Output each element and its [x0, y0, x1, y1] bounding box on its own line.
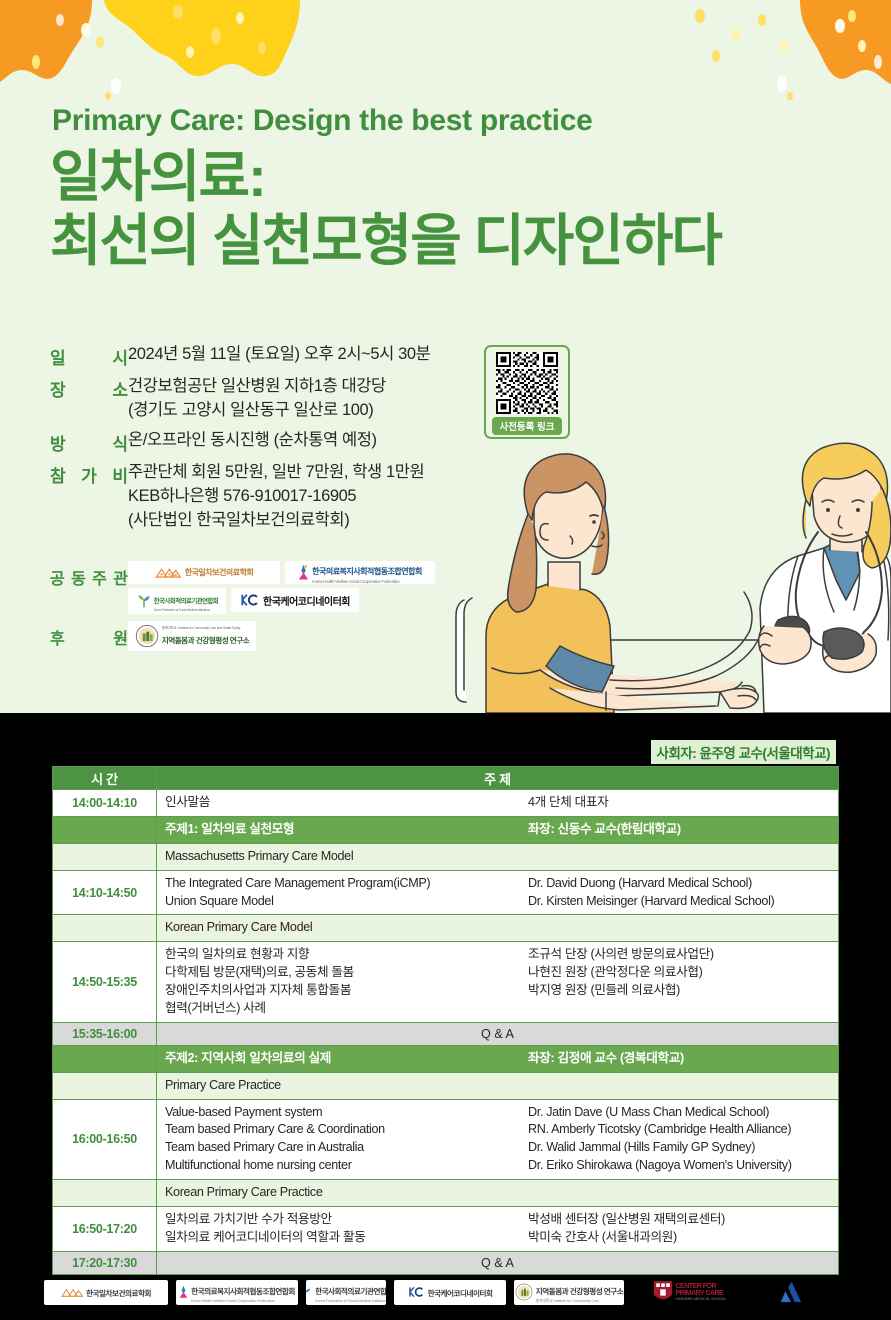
info-value-venue: 건강보험공단 일산병원 지하1층 대강당 (경기도 고양시 일산동구 일산로 1… [128, 375, 386, 423]
schedule-table: 시 간 주 제 14:00-14:10인사말씀4개 단체 대표자주제1: 일차의… [52, 766, 839, 1275]
footer-logo-sub: Korea Federation of Social Medical Insti… [315, 1299, 386, 1303]
table-row: 14:00-14:10인사말씀4개 단체 대표자 [53, 790, 839, 817]
cell-time [53, 1180, 157, 1207]
cell-topic: 일차의료 가치기반 수가 적용방안일차의료 케어코디네이터의 역할과 활동박성배… [157, 1206, 839, 1251]
logo-kpca-text: 한국일차보건의료학회 [185, 567, 254, 578]
topic-text: Massachusetts Primary Care Model [165, 848, 528, 866]
logo-khwscf-text: 한국의료복지사회적협동조합연합회 [312, 567, 422, 576]
footer-logo: 한국일차보건의료학회 [44, 1280, 168, 1305]
speaker-text: 좌장: 김정애 교수 (경복대학교) [528, 1050, 838, 1068]
footer-logo-strip: 한국일차보건의료학회한국의료복지사회적협동조합연합회Korea Health W… [0, 1272, 891, 1312]
topic-text: 일차의료 가치기반 수가 적용방안일차의료 케어코디네이터의 역할과 활동 [165, 1211, 528, 1247]
table-row: Primary Care Practice [53, 1072, 839, 1099]
schedule-panel: 사회자: 윤주영 교수(서울대학교) 시 간 주 제 14:00-14:10인사… [0, 713, 891, 1320]
logo-kpca: 한국일차보건의료학회 [128, 561, 280, 584]
institute-seal-icon [135, 624, 159, 648]
info-row-datetime: 일시 2024년 5월 11일 (토요일) 오후 2시~5시 30분 [50, 343, 490, 369]
cell-time: 16:00-16:50 [53, 1099, 157, 1180]
speaker-text: 4개 단체 대표자 [528, 794, 838, 812]
table-row: Korean Primary Care Model [53, 915, 839, 942]
cohost-label: 공동주관 [50, 561, 128, 589]
moderator-label: 사회자: 윤주영 교수(서울대학교) [651, 740, 836, 764]
footer-logo-name: 한국사회적의료기관연합회 [315, 1287, 386, 1296]
footer-logo-name: 한국케어코디네이터회 [428, 1289, 493, 1298]
footer-logo-name: 한국일차보건의료학회 [86, 1289, 151, 1298]
footer-logo-mark-icon [306, 1286, 312, 1299]
topic-text: 인사말씀 [165, 794, 528, 812]
info-row-venue: 장소 건강보험공단 일산병원 지하1층 대강당 (경기도 고양시 일산동구 일산… [50, 375, 490, 423]
poster-root: Primary Care: Design the best practice 일… [0, 0, 891, 1320]
footer-logo-sub: HARVARD MEDICAL SCHOOL [676, 1297, 740, 1301]
info-label-format: 방식 [50, 429, 128, 455]
footer-logo: 한국의료복지사회적협동조합연합회Korea Health Welfare Soc… [176, 1280, 298, 1305]
footer-logo-mark-icon [61, 1287, 83, 1298]
footer-logo-sub: 충북대학교 Institute for Community Care [536, 1299, 624, 1304]
cell-topic: Q & A [157, 1251, 839, 1274]
info-value-format: 온/오프라인 동시진행 (순차통역 예정) [128, 429, 377, 453]
logo-cbnu-institute: 충북대학교 / Institute for Community Care and… [128, 621, 256, 651]
footer-logo: 지역돌봄과 건강형평성 연구소충북대학교 Institute for Commu… [514, 1280, 624, 1305]
logo-cbnu-sub: 충북대학교 / Institute for Community Care and… [162, 625, 250, 630]
cell-topic: 주제1: 일차의료 실천모형좌장: 신동수 교수(한림대학교) [157, 816, 839, 843]
sponsor-row: 후원 충북대학교 / Institute for Community Care … [50, 621, 470, 651]
table-row: 17:20-17:30Q & A [53, 1251, 839, 1274]
cell-time [53, 1072, 157, 1099]
table-row: 15:35-16:00Q & A [53, 1022, 839, 1045]
sprout-icon [136, 593, 152, 609]
person-mark-icon [298, 564, 309, 581]
cell-topic: The Integrated Care Management Program(i… [157, 870, 839, 915]
footer-logo [768, 1277, 812, 1307]
qr-code-icon[interactable] [496, 352, 558, 414]
speaker-text: Dr. David Duong (Harvard Medical School)… [528, 875, 838, 911]
table-row: 14:50-15:35한국의 일차의료 현황과 지향다학제팀 방문(재택)의료,… [53, 942, 839, 1023]
table-row: 16:00-16:50Value-based Payment systemTea… [53, 1099, 839, 1180]
cell-time: 17:20-17:30 [53, 1251, 157, 1274]
logo-kfsmi-text: 한국사회적의료기관연합회 [154, 598, 219, 605]
info-label-fee: 참가비 [50, 461, 128, 487]
table-row: 주제2: 지역사회 일차의료의 실제좌장: 김정애 교수 (경복대학교) [53, 1045, 839, 1072]
speaker-text: 좌장: 신동수 교수(한림대학교) [528, 821, 838, 839]
speaker-text: Dr. Jatin Dave (U Mass Chan Medical Scho… [528, 1104, 838, 1176]
info-value-fee: 주관단체 회원 5만원, 일반 7만원, 학생 1만원 KEB하나은행 576-… [128, 461, 424, 533]
cell-topic: 인사말씀4개 단체 대표자 [157, 790, 839, 817]
qr-caption: 사전등록 링크 [492, 417, 561, 435]
footer-logo-sub: Korea Health Welfare Social Cooperative … [191, 1299, 295, 1303]
table-header-row: 시 간 주 제 [53, 767, 839, 790]
korean-title: 일차의료: 최선의 실천모형을 디자인하다 [50, 145, 890, 273]
cohost-logo-line-1: 한국일차보건의료학회 한국의료복지사회적협동조합연합회 Korea Health… [128, 561, 435, 584]
qa-label: Q & A [157, 1023, 838, 1045]
sponsor-logo-line: 충북대학교 / Institute for Community Care and… [128, 621, 256, 651]
footer-logo-mark-icon [653, 1280, 673, 1304]
table-row: Massachusetts Primary Care Model [53, 843, 839, 870]
cell-topic: 한국의 일차의료 현황과 지향다학제팀 방문(재택)의료, 공동체 돌봄장애인주… [157, 942, 839, 1023]
footer-logo-name: CENTER FOR PRIMARY CARE [676, 1283, 740, 1298]
table-row: 14:10-14:50The Integrated Care Managemen… [53, 870, 839, 915]
cell-time: 16:50-17:20 [53, 1206, 157, 1251]
column-header-time: 시 간 [53, 767, 157, 790]
footer-logo: 한국사회적의료기관연합회Korea Federation of Social M… [306, 1280, 386, 1305]
speaker-text: 박성배 센터장 (일산병원 재택의료센터)박미숙 간호사 (서울내과의원) [528, 1211, 838, 1247]
logo-kcc-text: 한국케어코디네이터회 [263, 593, 350, 608]
topic-text: 한국의 일차의료 현황과 지향다학제팀 방문(재택)의료, 공동체 돌봄장애인주… [165, 946, 528, 1018]
column-header-topic: 주 제 [157, 767, 839, 790]
cell-topic: Korean Primary Care Practice [157, 1180, 839, 1207]
organizer-block: 공동주관 한국일차보건의료학회 [50, 561, 470, 655]
cell-time: 14:50-15:35 [53, 942, 157, 1023]
korean-title-line2: 최선의 실천모형을 디자인하다 [50, 209, 890, 273]
footer-logo-mark-icon [179, 1285, 188, 1299]
table-row: 16:50-17:20일차의료 가치기반 수가 적용방안일차의료 케어코디네이터… [53, 1206, 839, 1251]
speaker-text: 조규석 단장 (사의련 방문의료사업단)나현진 원장 (관악정다운 의료사협)박… [528, 946, 838, 1000]
registration-qr-box[interactable]: 사전등록 링크 [484, 345, 570, 439]
info-value-datetime: 2024년 5월 11일 (토요일) 오후 2시~5시 30분 [128, 343, 430, 367]
english-title: Primary Care: Design the best practice [52, 104, 592, 138]
cell-topic: Primary Care Practice [157, 1072, 839, 1099]
mountain-house-icon [155, 566, 181, 579]
logo-kcc: 한국케어코디네이터회 [231, 588, 359, 612]
cell-topic: 주제2: 지역사회 일차의료의 실제좌장: 김정애 교수 (경복대학교) [157, 1045, 839, 1072]
cell-time [53, 915, 157, 942]
cell-topic: Value-based Payment systemTeam based Pri… [157, 1099, 839, 1180]
cohost-row: 공동주관 한국일차보건의료학회 [50, 561, 470, 614]
logo-khwscf: 한국의료복지사회적협동조합연합회 Korea Health Welfare So… [285, 561, 435, 584]
cell-time [53, 816, 157, 843]
topic-text: Korean Primary Care Practice [165, 1184, 528, 1202]
topic-text: 주제2: 지역사회 일차의료의 실제 [165, 1050, 528, 1068]
schedule-table-body: 14:00-14:10인사말씀4개 단체 대표자주제1: 일차의료 실천모형좌장… [53, 790, 839, 1275]
cell-topic: Q & A [157, 1022, 839, 1045]
table-row: Korean Primary Care Practice [53, 1180, 839, 1207]
cohost-logo-line-2: 한국사회적의료기관연합회 Korea Federation of Social … [128, 588, 435, 614]
logo-kfsmi-sub: Korea Federation of Social Medical Insti… [154, 608, 219, 612]
cell-time: 14:10-14:50 [53, 870, 157, 915]
cell-topic: Korean Primary Care Model [157, 915, 839, 942]
decorative-blobs [0, 0, 891, 120]
footer-logo-mark-icon [408, 1286, 425, 1298]
topic-text: Korean Primary Care Model [165, 919, 528, 937]
topic-text: 주제1: 일차의료 실천모형 [165, 821, 528, 839]
logo-cbnu-text: 지역돌봄과 건강형평성 연구소 [162, 636, 250, 645]
qa-label: Q & A [157, 1252, 838, 1274]
table-row: 주제1: 일차의료 실천모형좌장: 신동수 교수(한림대학교) [53, 816, 839, 843]
info-label-venue: 장소 [50, 375, 128, 401]
footer-logo-name: 지역돌봄과 건강형평성 연구소 [536, 1287, 624, 1296]
poster-top-panel: Primary Care: Design the best practice 일… [0, 0, 891, 713]
footer-logo-name: 한국의료복지사회적협동조합연합회 [191, 1287, 295, 1296]
cell-time [53, 1045, 157, 1072]
footer-logo-mark-icon [515, 1283, 533, 1301]
cell-topic: Massachusetts Primary Care Model [157, 843, 839, 870]
sponsor-label: 후원 [50, 621, 128, 649]
footer-logo: CENTER FOR PRIMARY CAREHARVARD MEDICAL S… [632, 1277, 760, 1307]
korean-title-line1: 일차의료: [50, 145, 265, 208]
topic-text: Primary Care Practice [165, 1077, 528, 1095]
footer-logo-mark-icon [777, 1280, 803, 1304]
kc-mark-icon [240, 593, 260, 607]
info-label-datetime: 일시 [50, 343, 128, 369]
footer-logo: 한국케어코디네이터회 [394, 1280, 506, 1305]
logo-kfsmi: 한국사회적의료기관연합회 Korea Federation of Social … [128, 588, 226, 614]
cell-time [53, 843, 157, 870]
cell-time: 15:35-16:00 [53, 1022, 157, 1045]
logo-khwscf-sub: Korea Health Welfare Social Cooperative … [312, 579, 422, 584]
topic-text: Value-based Payment systemTeam based Pri… [165, 1104, 528, 1176]
topic-text: The Integrated Care Management Program(i… [165, 875, 528, 911]
cell-time: 14:00-14:10 [53, 790, 157, 817]
blood-pressure-consultation-illustration [420, 440, 891, 713]
